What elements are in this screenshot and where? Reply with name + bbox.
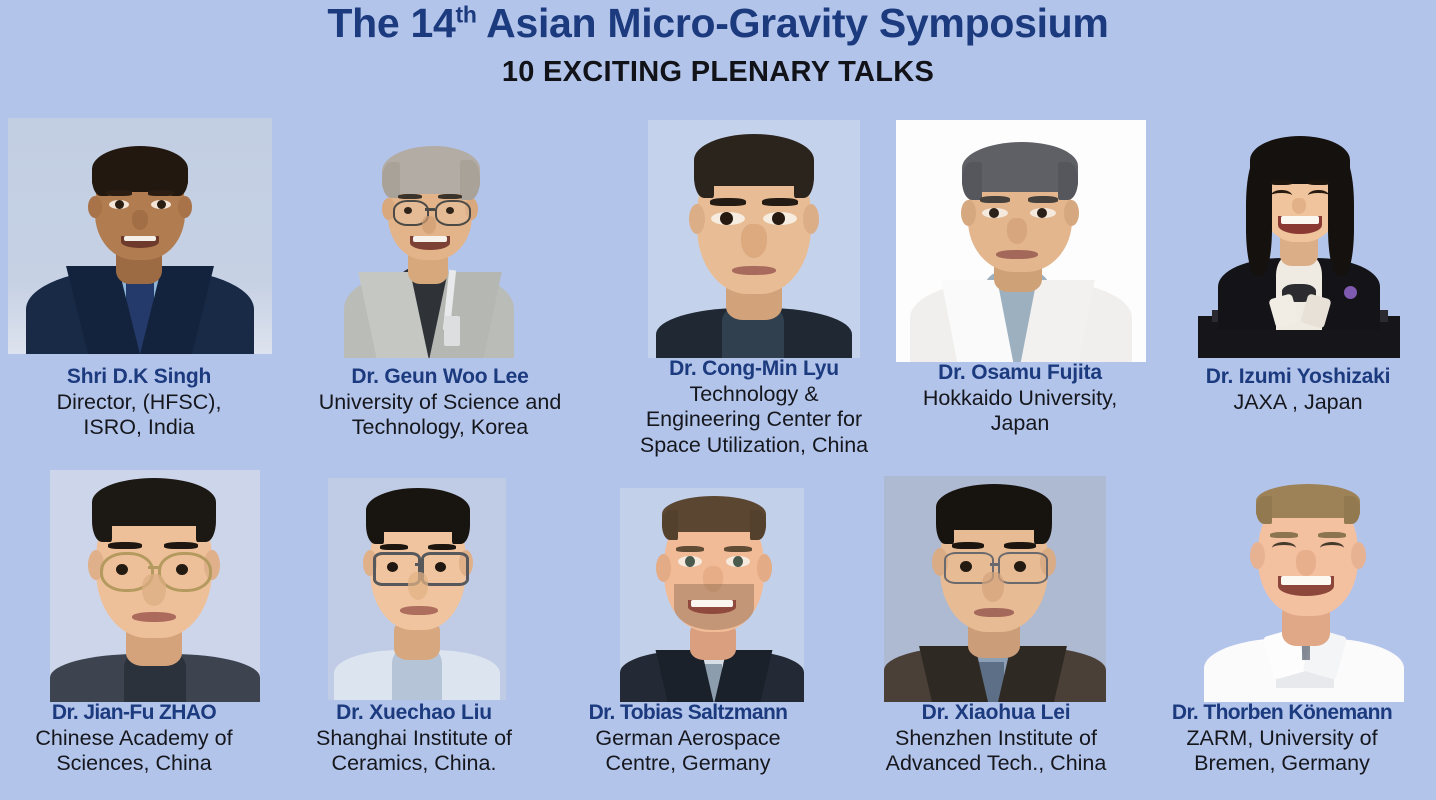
speaker-name: Dr. Thorben Könemann [1128,702,1436,725]
speaker-name: Shri D.K Singh [0,366,278,389]
speaker-affiliation-line: Advanced Tech., China [860,750,1132,776]
speaker-name: Dr. Izumi Yoshizaki [1160,366,1436,389]
speaker-affiliation-line: Shanghai Institute of [276,725,552,751]
speaker-affiliation-line: Director, (HFSC), [0,389,278,415]
speaker-caption: Dr. Jian-Fu ZHAO Chinese Academy of Scie… [0,702,268,776]
portrait-dr-osamu-fujita [896,120,1146,362]
speaker-caption: Dr. Geun Woo Lee University of Science a… [286,366,594,440]
speaker-caption: Dr. Cong-Min Lyu Technology & Engineerin… [594,358,914,457]
subtitle: 10 EXCITING PLENARY TALKS [0,45,1436,89]
speaker-affiliation-line: Sciences, China [0,750,268,776]
portrait-dr-xuechao-liu [328,478,506,700]
speaker-name: Dr. Osamu Fujita [880,362,1160,385]
speaker-affiliation-line: Engineering Center for [594,406,914,432]
speaker-name: Dr. Geun Woo Lee [286,366,594,389]
speaker-name: Dr. Jian-Fu ZHAO [0,702,268,725]
portrait-dr-thorben-koenemann [1190,476,1420,702]
speaker-affiliation-line: Japan [880,410,1160,436]
speaker-name: Dr. Xuechao Liu [276,702,552,725]
speaker-affiliation-line: Space Utilization, China [594,432,914,458]
speaker-caption: Dr. Xiaohua Lei Shenzhen Institute of Ad… [860,702,1132,776]
speaker-affiliation-line: Hokkaido University, [880,385,1160,411]
speaker-name: Dr. Cong-Min Lyu [594,358,914,381]
speaker-affiliation-line: Technology, Korea [286,414,594,440]
speaker-caption: Dr. Osamu Fujita Hokkaido University, Ja… [880,362,1160,436]
speaker-affiliation-line: University of Science and [286,389,594,415]
speaker-affiliation-line: Ceramics, China. [276,750,552,776]
speaker-name: Dr. Xiaohua Lei [860,702,1132,725]
page-title: The 14th Asian Micro-Gravity Symposium [0,0,1436,45]
portrait-shri-dk-singh [8,118,272,354]
portrait-dr-jian-fu-zhao [50,470,260,702]
speaker-affiliation-line: Technology & [594,381,914,407]
speaker-affiliation-line: Chinese Academy of [0,725,268,751]
title-ordinal-suffix: th [456,1,477,27]
speaker-caption: Dr. Tobias Saltzmann German Aerospace Ce… [546,702,830,776]
portrait-dr-xiaohua-lei [884,476,1106,702]
speaker-affiliation-line: Centre, Germany [546,750,830,776]
portrait-dr-geun-woo-lee [338,120,518,358]
portrait-dr-tobias-saltzmann [620,488,804,702]
portrait-dr-cong-min-lyu [648,120,860,358]
title-rest: Asian Micro-Gravity Symposium [477,0,1109,46]
portrait-dr-izumi-yoshizaki [1198,118,1400,358]
speaker-caption: Shri D.K Singh Director, (HFSC), ISRO, I… [0,366,278,440]
title-block: The 14th Asian Micro-Gravity Symposium 1… [0,0,1436,89]
speaker-affiliation-line: ISRO, India [0,414,278,440]
symposium-slide: The 14th Asian Micro-Gravity Symposium 1… [0,0,1436,800]
speaker-affiliation-line: ZARM, University of [1128,725,1436,751]
speaker-caption: Dr. Thorben Könemann ZARM, University of… [1128,702,1436,776]
speaker-name: Dr. Tobias Saltzmann [546,702,830,725]
speaker-caption: Dr. Xuechao Liu Shanghai Institute of Ce… [276,702,552,776]
speaker-affiliation-line: Bremen, Germany [1128,750,1436,776]
title-prefix: The 14 [327,0,455,46]
speaker-caption: Dr. Izumi Yoshizaki JAXA , Japan [1160,366,1436,414]
speaker-affiliation-line: German Aerospace [546,725,830,751]
speaker-affiliation-line: Shenzhen Institute of [860,725,1132,751]
speaker-affiliation-line: JAXA , Japan [1160,389,1436,415]
